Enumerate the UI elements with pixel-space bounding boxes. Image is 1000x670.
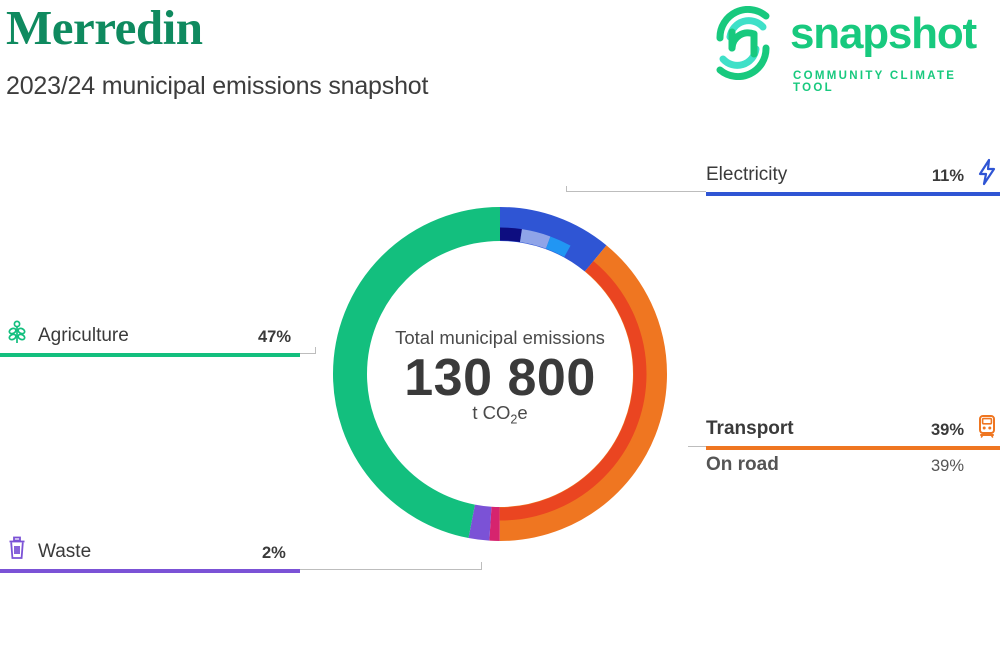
legend-label-on-road: On road [706,454,779,476]
leader-line-agriculture-hook [315,347,316,354]
legend-pct-on-road: 39% [931,457,964,476]
legend-label-waste: Waste [38,541,91,563]
legend-bar-transport [706,446,1000,450]
unit-suffix: e [517,402,527,423]
infographic-canvas: Merredin 2023/24 municipal emissions sna… [0,0,1000,670]
legend-pct-agriculture: 47% [258,328,291,347]
page-title: Merredin [6,2,202,53]
legend-bar-electricity [706,192,1000,196]
legend-pct-transport: 39% [931,421,964,440]
logo-tagline: COMMUNITY CLIMATE TOOL [793,70,998,94]
snapshot-logo: snapshot COMMUNITY CLIMATE TOOL [706,4,998,86]
lightning-bolt-icon [974,158,1000,186]
leader-line-transport [688,446,706,447]
leader-line-agriculture [298,353,316,354]
legend-row: Agriculture 47% [0,325,300,351]
leader-line-electricity [566,191,706,192]
legend-transport[interactable]: Transport 39% On road 39% [706,418,1000,444]
legend-row: Waste 2% [0,541,300,567]
legend-subrow-on-road[interactable]: On road 39% [706,454,1000,480]
wheat-icon [4,319,30,347]
snapshot-swirl-icon [706,6,780,80]
legend-waste[interactable]: Waste 2% [0,541,300,567]
legend-bar-agriculture [0,353,300,357]
legend-row: Electricity 11% [706,164,1000,190]
donut-center-label: Total municipal emissions [322,327,678,349]
legend-bar-waste [0,569,300,573]
legend-label-transport: Transport [706,418,794,440]
legend-agriculture[interactable]: Agriculture 47% [0,325,300,351]
leader-line-waste [298,569,482,570]
train-icon [974,412,1000,440]
leader-line-waste-hook [481,562,482,570]
legend-row: Transport 39% [706,418,1000,444]
leader-line-electricity-hook [566,186,567,192]
unit-prefix: t CO [472,402,510,423]
logo-wordmark: snapshot [790,12,976,56]
donut-center-value: 130 800 [322,348,678,408]
donut-center-unit: t CO2e [322,402,678,427]
trash-bin-icon [4,534,30,562]
legend-electricity[interactable]: Electricity 11% [706,164,1000,190]
page-subtitle: 2023/24 municipal emissions snapshot [6,72,428,101]
legend-label-electricity: Electricity [706,164,787,186]
legend-pct-waste: 2% [262,544,286,563]
legend-pct-electricity: 11% [932,167,964,186]
legend-label-agriculture: Agriculture [38,325,129,347]
